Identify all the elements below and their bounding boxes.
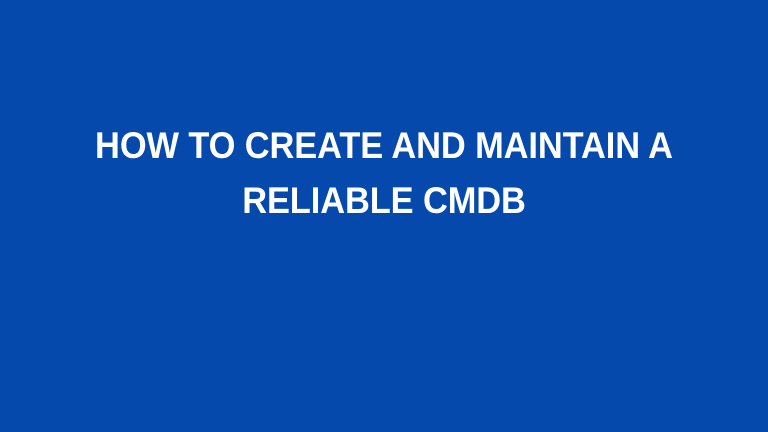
banner-canvas: HOW TO CREATE AND MAINTAIN A RELIABLE CM…: [0, 0, 768, 432]
title-line-2: RELIABLE CMDB: [27, 173, 741, 228]
page-title: HOW TO CREATE AND MAINTAIN A RELIABLE CM…: [0, 118, 768, 228]
title-line-1: HOW TO CREATE AND MAINTAIN A: [27, 118, 741, 173]
